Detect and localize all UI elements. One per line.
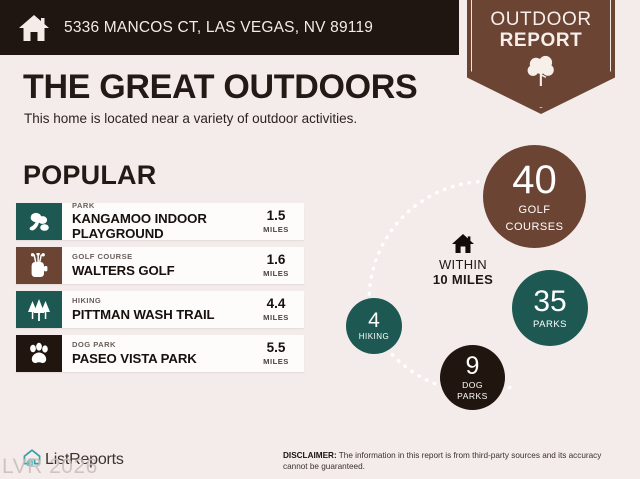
park-icon	[16, 203, 62, 240]
distance-unit: MILES	[263, 225, 289, 234]
list-item[interactable]: HIKING PITTMAN WASH TRAIL 4.4 MILES	[16, 291, 304, 328]
bubble-value: 35	[533, 287, 566, 317]
list-item-distance: 4.4 MILES	[252, 291, 304, 328]
bubble-parks[interactable]: 35 PARKS	[512, 270, 588, 346]
golf-bag-icon	[16, 247, 62, 284]
list-item[interactable]: GOLF COURSE WALTERS GOLF 1.6 MILES	[16, 247, 304, 284]
list-item-distance: 1.5 MILES	[252, 203, 304, 240]
distance-unit: MILES	[263, 357, 289, 366]
list-item-distance: 1.6 MILES	[252, 247, 304, 284]
list-item-category: HIKING	[72, 297, 252, 305]
bubble-label-line2: COURSES	[506, 222, 564, 234]
list-item-name: PASEO VISTA PARK	[72, 351, 252, 366]
center-line-2: 10 MILES	[408, 273, 518, 288]
page-subtitle: This home is located near a variety of o…	[24, 111, 357, 126]
bubble-label-line2: PARKS	[457, 392, 488, 401]
distance-value: 4.4	[267, 297, 286, 311]
disclaimer: DISCLAIMER: The information in this repo…	[283, 450, 628, 472]
list-item-category: DOG PARK	[72, 341, 252, 349]
list-item-distance: 5.5 MILES	[252, 335, 304, 372]
distance-unit: MILES	[263, 269, 289, 278]
center-line-1: WITHIN	[408, 258, 518, 273]
popular-places-list: PARK KANGAMOO INDOOR PLAYGROUND 1.5 MILE…	[16, 203, 304, 379]
bubble-value: 9	[466, 354, 480, 379]
popular-heading: POPULAR	[23, 160, 156, 191]
center-radius-label: WITHIN 10 MILES	[408, 233, 518, 288]
bubble-hiking[interactable]: 4 HIKING	[346, 298, 402, 354]
list-item-text: GOLF COURSE WALTERS GOLF	[62, 247, 252, 284]
distance-unit: MILES	[263, 313, 289, 322]
list-item-text: HIKING PITTMAN WASH TRAIL	[62, 291, 252, 328]
within-10-miles-infographic: 40 GOLF COURSES 35 PARKS 4 HIKING 9 DOG …	[330, 130, 640, 430]
list-item-name: WALTERS GOLF	[72, 263, 252, 278]
bubble-value: 40	[512, 160, 557, 200]
tree-icon	[526, 54, 556, 87]
distance-value: 5.5	[267, 341, 286, 355]
list-item-category: PARK	[72, 202, 252, 210]
bubble-label-line1: DOG	[462, 381, 483, 390]
paw-print-icon	[16, 335, 62, 372]
distance-value: 1.6	[267, 253, 286, 267]
header-bar: 5336 MANCOS CT, LAS VEGAS, NV 89119	[0, 0, 459, 55]
bubble-value: 4	[368, 310, 380, 331]
list-item[interactable]: DOG PARK PASEO VISTA PARK 5.5 MILES	[16, 335, 304, 372]
list-item-text: DOG PARK PASEO VISTA PARK	[62, 335, 252, 372]
list-item-name: PITTMAN WASH TRAIL	[72, 307, 252, 322]
outdoor-report-badge: OUTDOOR REPORT	[467, 0, 615, 114]
watermark: LVR 2026	[2, 455, 98, 479]
pine-trees-icon	[16, 291, 62, 328]
badge-line-1: OUTDOOR	[467, 9, 615, 31]
list-item-category: GOLF COURSE	[72, 253, 252, 261]
home-icon	[17, 12, 51, 44]
list-item[interactable]: PARK KANGAMOO INDOOR PLAYGROUND 1.5 MILE…	[16, 203, 304, 240]
home-icon	[408, 233, 518, 254]
disclaimer-label: DISCLAIMER:	[283, 451, 337, 460]
page-title: THE GREAT OUTDOORS	[23, 68, 417, 107]
bubble-dog-parks[interactable]: 9 DOG PARKS	[440, 345, 505, 410]
bubble-label-line1: GOLF	[519, 205, 551, 217]
distance-value: 1.5	[267, 209, 286, 223]
bubble-label-line1: HIKING	[359, 333, 390, 341]
bubble-label-line1: PARKS	[533, 320, 567, 330]
list-item-name: KANGAMOO INDOOR PLAYGROUND	[72, 211, 252, 241]
outdoor-report-page: 5336 MANCOS CT, LAS VEGAS, NV 89119 OUTD…	[0, 0, 640, 479]
list-item-text: PARK KANGAMOO INDOOR PLAYGROUND	[62, 203, 252, 240]
property-address: 5336 MANCOS CT, LAS VEGAS, NV 89119	[64, 19, 373, 37]
badge-line-2: REPORT	[467, 30, 615, 52]
